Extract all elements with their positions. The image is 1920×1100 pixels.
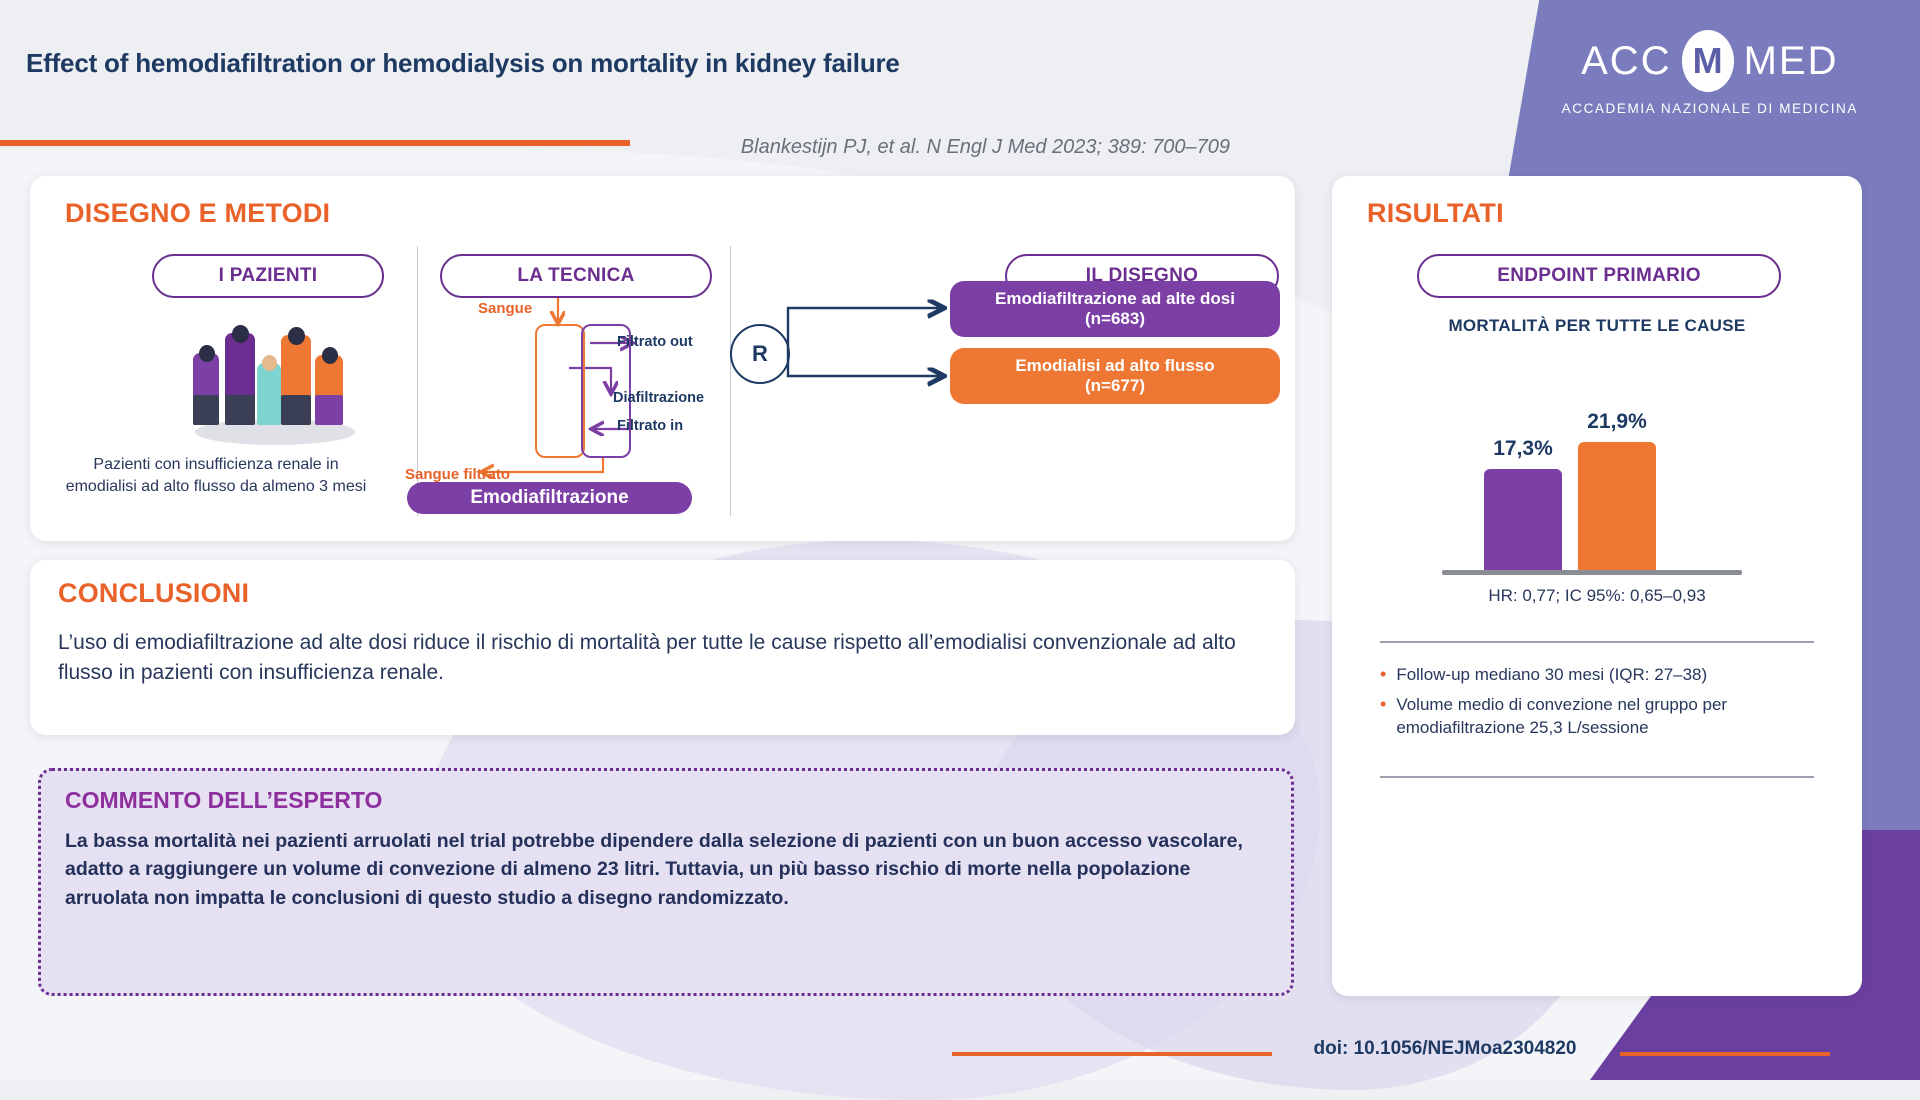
citation-text: Blankestijn PJ, et al. N Engl J Med 2023… — [540, 136, 1230, 159]
mortality-bar-chart: 17,3% 21,9% — [1392, 366, 1792, 581]
arm-count: (n=683) — [1085, 309, 1145, 329]
bar-hdf — [1484, 469, 1562, 573]
technique-diagram: Sangue Filtrato out Diafiltrazione Filtr… — [435, 296, 725, 511]
bar-value-label: 21,9% — [1587, 410, 1647, 434]
chart-baseline-axis — [1442, 570, 1742, 575]
patients-illustration — [175, 311, 375, 441]
title-divider-rule — [0, 140, 630, 146]
technique-summary-bar: Emodiafiltrazione — [407, 482, 692, 514]
person-legs — [315, 395, 343, 425]
bullet-text: Follow-up mediano 30 mesi (IQR: 27–38) — [1396, 664, 1707, 686]
arm-name: Emodialisi ad alto flusso — [1015, 356, 1214, 376]
page-title: Effect of hemodiafiltration or hemodialy… — [26, 48, 1206, 79]
person-figure — [315, 355, 343, 425]
label-filtrate-out: Filtrato out — [617, 334, 693, 350]
footer-rule-right — [1620, 1052, 1830, 1056]
conclusions-card: CONCLUSIONI L’uso di emodiafiltrazione a… — [30, 560, 1295, 735]
conclusions-section-title: CONCLUSIONI — [58, 578, 249, 609]
bullet-dot-icon: • — [1380, 694, 1386, 739]
expert-comment-text: La bassa mortalità nei pazienti arruolat… — [65, 827, 1260, 912]
accmed-logo: ACC M MED ACCADEMIA NAZIONALE DI MEDICIN… — [1562, 30, 1858, 116]
logo-m-mark-icon: M — [1682, 30, 1734, 92]
expert-comment-title: COMMENTO DELL’ESPERTO — [65, 787, 382, 814]
treatment-arm-hd: Emodialisi ad alto flusso (n=677) — [950, 348, 1280, 404]
person-figure — [193, 353, 219, 425]
pill-primary-endpoint: ENDPOINT PRIMARIO — [1417, 254, 1781, 298]
results-section-title: RISULTATI — [1367, 198, 1504, 229]
person-figure — [225, 333, 255, 425]
hazard-ratio-text: HR: 0,77; IC 95%: 0,65–0,93 — [1332, 586, 1862, 606]
logo-subtitle: ACCADEMIA NAZIONALE DI MEDICINA — [1562, 101, 1858, 116]
logo-acc-text: ACC — [1581, 41, 1671, 81]
methods-card: DISEGNO E METODI I PAZIENTI Pazienti con… — [30, 176, 1295, 541]
bar-value-label: 17,3% — [1493, 437, 1553, 461]
person-head — [262, 355, 277, 371]
footer-rule-left — [952, 1052, 1272, 1056]
bar-group-hd: 21,9% — [1578, 410, 1656, 573]
bar-group-hdf: 17,3% — [1484, 437, 1562, 573]
person-legs — [281, 395, 311, 425]
person-figure — [281, 335, 311, 425]
chart-title: MORTALITÀ PER TUTTE LE CAUSE — [1332, 316, 1862, 336]
person-head — [322, 347, 338, 364]
list-item: • Follow-up mediano 30 mesi (IQR: 27–38) — [1380, 664, 1820, 686]
person-legs — [225, 395, 255, 425]
column-divider-2 — [730, 246, 731, 516]
list-item: • Volume medio di convezione nel gruppo … — [1380, 694, 1820, 739]
logo-med-text: MED — [1744, 41, 1839, 81]
person-head — [232, 325, 249, 343]
randomization-node: R — [730, 324, 790, 384]
methods-section-title: DISEGNO E METODI — [65, 198, 330, 229]
patients-caption: Pazienti con insufficienza renale in emo… — [56, 454, 376, 497]
doi-text: doi: 10.1056/NEJMoa2304820 — [1270, 1038, 1620, 1060]
person-legs — [193, 395, 219, 425]
label-blood-filtered: Sangue filtrato — [405, 466, 510, 483]
pill-patients: I PAZIENTI — [152, 254, 384, 298]
bullet-dot-icon: • — [1380, 664, 1386, 686]
label-filtrate-in: Filtrato in — [617, 418, 683, 434]
arm-name: Emodiafiltrazione ad alte dosi — [995, 289, 1235, 309]
person-figure — [257, 363, 281, 425]
technique-blood-column — [535, 324, 585, 458]
arm-count: (n=677) — [1085, 376, 1145, 396]
label-diafiltration: Diafiltrazione — [613, 390, 704, 406]
results-bullet-list: • Follow-up mediano 30 mesi (IQR: 27–38)… — [1380, 664, 1820, 747]
treatment-arm-hdf: Emodiafiltrazione ad alte dosi (n=683) — [950, 281, 1280, 337]
results-divider-top — [1380, 641, 1814, 643]
results-divider-bottom — [1380, 776, 1814, 778]
person-head — [199, 345, 215, 362]
person-head — [288, 327, 305, 345]
conclusions-text: L’uso di emodiafiltrazione ad alte dosi … — [58, 628, 1248, 689]
randomization-arrows — [782, 286, 962, 446]
pill-technique: LA TECNICA — [440, 254, 712, 298]
bar-hd — [1578, 442, 1656, 573]
results-card: RISULTATI ENDPOINT PRIMARIO MORTALITÀ PE… — [1332, 176, 1862, 996]
expert-comment-box: COMMENTO DELL’ESPERTO La bassa mortalità… — [38, 768, 1294, 996]
bullet-text: Volume medio di convezione nel gruppo pe… — [1396, 694, 1820, 739]
